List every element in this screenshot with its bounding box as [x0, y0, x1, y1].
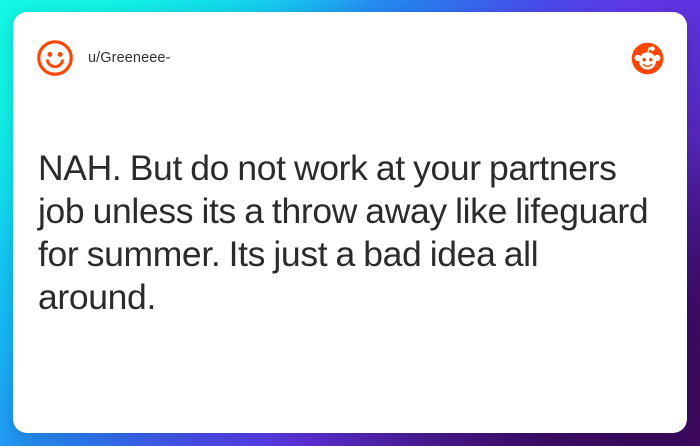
username-label: u/Greeneee- [88, 50, 171, 66]
screenshot-canvas: u/Greeneee- NAH. But do not work at your… [0, 0, 700, 446]
reddit-snoo-icon [631, 42, 664, 75]
avatar-smiley-icon [36, 39, 74, 77]
card-header: u/Greeneee- [13, 12, 687, 104]
reddit-comment-card: u/Greeneee- NAH. But do not work at your… [13, 12, 687, 433]
comment-text: NAH. But do not work at your partners jo… [38, 147, 662, 319]
